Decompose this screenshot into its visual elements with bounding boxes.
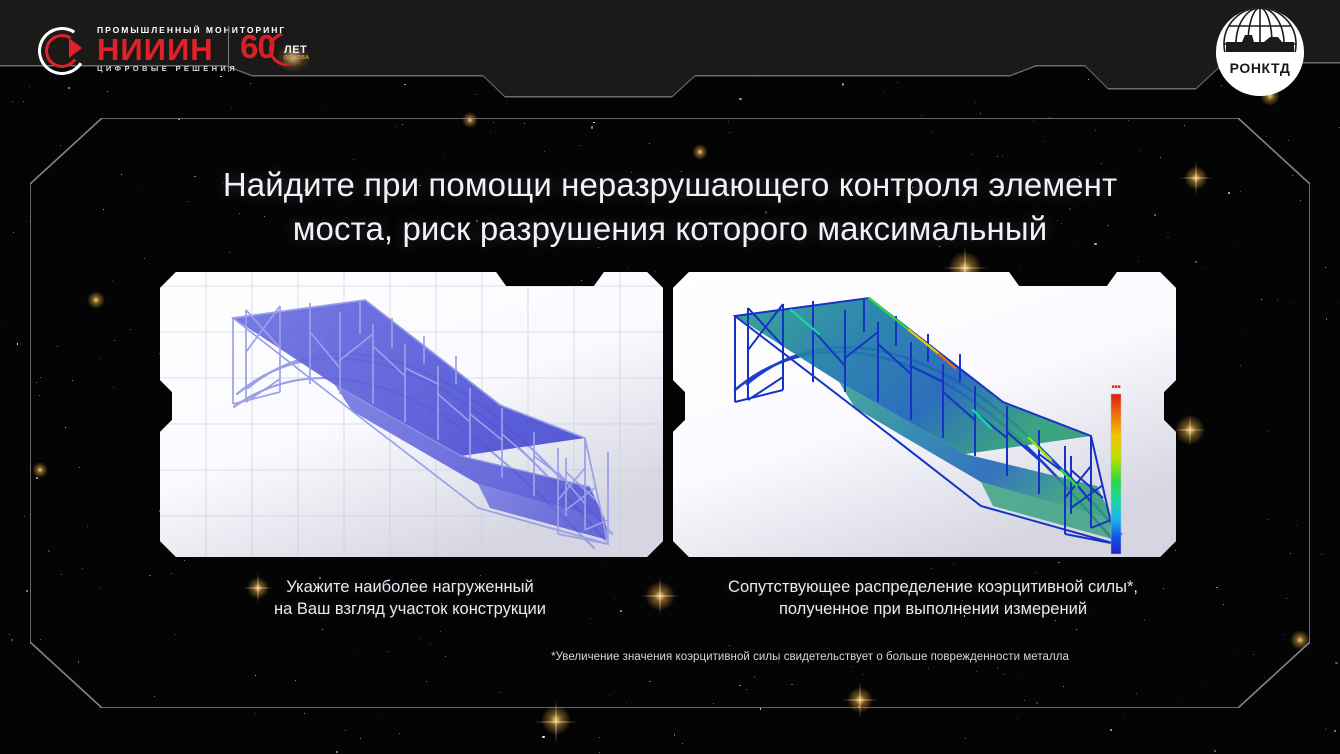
star-dot — [100, 358, 101, 359]
star-dot — [440, 631, 441, 632]
star-dot — [729, 645, 730, 646]
star-dot — [1240, 191, 1242, 193]
star-dot — [1124, 716, 1125, 717]
star-dot — [1195, 261, 1198, 264]
star-dot — [65, 427, 66, 428]
star-dot — [1110, 729, 1112, 731]
star-dot — [1277, 300, 1278, 301]
star-dot — [754, 676, 756, 678]
star-dot — [858, 706, 860, 708]
star-dot — [1292, 175, 1293, 176]
globe-icon — [1216, 8, 1304, 96]
star-dot — [26, 221, 27, 222]
star-dot — [1261, 299, 1262, 300]
star-dot — [1043, 141, 1044, 142]
star-dot — [739, 98, 742, 101]
header-divider — [228, 26, 229, 72]
anniversary-subtitle: ОСНОВА — [284, 55, 310, 61]
star-dot — [1326, 318, 1328, 320]
star-dot — [255, 675, 256, 676]
star-dot — [229, 252, 230, 253]
star-dot — [113, 387, 114, 388]
star-dot — [39, 395, 40, 396]
star-dot — [604, 563, 605, 564]
star-dot — [1325, 267, 1326, 268]
star-dot — [976, 671, 977, 672]
star-dot — [609, 695, 610, 696]
star-dot — [975, 102, 976, 103]
star-dot — [381, 714, 382, 715]
star-dot — [757, 78, 758, 79]
star-dot — [72, 380, 73, 381]
star-dot — [1002, 156, 1003, 157]
star-dot — [1178, 697, 1180, 699]
star-dot — [1058, 562, 1060, 564]
star-dot — [739, 685, 741, 687]
star-dot — [1179, 439, 1180, 440]
star-dot — [430, 644, 431, 645]
star-dot — [345, 730, 346, 731]
star-dot — [490, 132, 491, 133]
caption-right-line-2: полученное при выполнении измерений — [683, 598, 1183, 620]
star-dot — [9, 634, 10, 635]
star-dot — [36, 477, 38, 479]
star-dot — [1335, 662, 1338, 665]
star-dot — [1321, 554, 1322, 555]
star-dot — [103, 209, 104, 210]
panel-fea-result[interactable]: ■■■ ■■■ — [673, 272, 1176, 557]
star-dot — [1223, 604, 1224, 605]
star-dot — [655, 271, 656, 272]
star-dot — [29, 86, 30, 87]
star-dot — [360, 738, 361, 739]
star-dot — [1334, 730, 1336, 732]
star-dot — [1264, 677, 1265, 678]
star-dot — [1296, 525, 1297, 526]
star-dot — [580, 145, 581, 146]
cad-bridge-drawing — [160, 272, 663, 557]
star-dot — [965, 738, 967, 740]
star-dot — [178, 119, 180, 121]
star-dot — [1139, 150, 1140, 151]
star-dot — [99, 588, 100, 589]
star-dot — [1160, 157, 1161, 158]
svg-text:■■■: ■■■ — [1111, 384, 1120, 390]
star-dot — [12, 101, 13, 102]
star-dot — [171, 573, 172, 574]
star-dot — [159, 353, 160, 354]
slide-root: ПРОМЫШЛЕННЫЙ МОНИТОРИНГ НИИИН ЦИФРОВЫЕ Р… — [0, 0, 1340, 754]
star-dot — [627, 267, 628, 268]
ronktd-label: РОНКТД — [1216, 60, 1304, 76]
star-dot — [402, 124, 403, 125]
star-dot — [426, 681, 427, 682]
star-sparkle — [640, 576, 680, 616]
star-dot — [842, 83, 845, 86]
star-dot — [57, 346, 58, 347]
star-dot — [1088, 79, 1089, 80]
star-dot — [729, 132, 730, 133]
star-dot — [1184, 125, 1185, 126]
caption-left-line-1: Укажите наиболее нагруженный — [195, 576, 625, 598]
star-dot — [30, 466, 31, 467]
star-dot — [506, 103, 507, 104]
panel-cad-model[interactable] — [160, 272, 663, 557]
star-dot — [304, 713, 305, 714]
star-glow — [847, 687, 873, 713]
star-dot — [1024, 700, 1025, 701]
star-dot — [1017, 718, 1018, 719]
star-dot — [79, 467, 80, 468]
star-dot — [82, 568, 83, 569]
star-dot — [130, 329, 131, 330]
star-dot — [1020, 672, 1021, 673]
star-dot — [23, 101, 24, 102]
star-dot — [682, 743, 683, 744]
star-dot — [231, 108, 232, 109]
star-dot — [11, 639, 13, 641]
star-glow — [87, 291, 105, 309]
star-dot — [626, 703, 627, 704]
star-dot — [13, 232, 14, 233]
star-dot — [154, 696, 155, 697]
star-dot — [998, 668, 999, 669]
star-dot — [980, 113, 981, 114]
star-dot — [1267, 431, 1268, 432]
star-dot — [524, 123, 525, 124]
star-dot — [1036, 702, 1039, 705]
star-dot — [17, 343, 19, 345]
star-glow — [692, 144, 708, 160]
star-dot — [68, 87, 70, 89]
star-dot — [40, 377, 41, 378]
star-dot — [184, 560, 185, 561]
caption-right: Сопутствующее распределение коэрцитивной… — [683, 576, 1183, 620]
star-dot — [1004, 674, 1005, 675]
star-dot — [1049, 117, 1050, 118]
star-dot — [1234, 649, 1235, 650]
star-dot — [791, 684, 793, 686]
star-dot — [932, 132, 933, 133]
star-dot — [953, 564, 954, 565]
star-sparkle — [1174, 414, 1206, 446]
arrow-right-icon — [69, 38, 82, 58]
star-dot — [542, 736, 545, 739]
star-dot — [1240, 330, 1241, 331]
star-glow — [1175, 415, 1205, 445]
star-dot — [1234, 246, 1235, 247]
star-dot — [1063, 686, 1064, 687]
star-dot — [419, 638, 420, 639]
star-dot — [353, 159, 354, 160]
star-dot — [87, 526, 88, 527]
star-glow — [541, 705, 571, 735]
star-dot — [1128, 120, 1129, 121]
star-dot — [396, 126, 397, 127]
star-dot — [746, 689, 748, 691]
star-dot — [26, 590, 28, 592]
star-dot — [1138, 261, 1139, 262]
star-dot — [475, 94, 476, 95]
star-dot — [1228, 192, 1230, 194]
page-title: Найдите при помощи неразрушающего контро… — [150, 163, 1190, 251]
star-dot — [997, 667, 998, 668]
star-dot — [1288, 140, 1289, 141]
title-line-2: моста, риск разрушения которого максимал… — [150, 207, 1190, 251]
star-dot — [728, 121, 729, 122]
star-dot — [1216, 587, 1218, 589]
star-dot — [144, 258, 145, 259]
star-dot — [581, 280, 582, 281]
caption-left-line-2: на Ваш взгляд участок конструкции — [195, 598, 625, 620]
star-dot — [1290, 553, 1291, 554]
star-dot — [78, 661, 80, 663]
star-dot — [1325, 728, 1327, 730]
star-dot — [1240, 365, 1241, 366]
star-dot — [40, 639, 41, 640]
star-dot — [114, 340, 115, 341]
star-dot — [255, 713, 256, 714]
star-dot — [1283, 634, 1284, 635]
star-dot — [6, 326, 7, 327]
star-dot — [971, 154, 972, 155]
star-dot — [322, 109, 323, 110]
star-dot — [112, 280, 113, 281]
star-dot — [404, 84, 406, 86]
star-dot — [322, 629, 323, 630]
star-dot — [1286, 598, 1287, 599]
star-glow — [32, 462, 48, 478]
star-dot — [1175, 550, 1176, 551]
star-dot — [1338, 302, 1339, 303]
star-glow — [645, 581, 675, 611]
star-dot — [931, 568, 932, 569]
star-dot — [121, 174, 123, 176]
star-dot — [48, 550, 50, 552]
star-dot — [1293, 302, 1294, 303]
star-dot — [593, 122, 595, 124]
star-dot — [353, 650, 354, 651]
star-dot — [1136, 693, 1137, 694]
star-dot — [175, 634, 176, 635]
niiin-logo-mark-icon — [36, 25, 88, 73]
star-dot — [649, 681, 651, 683]
ronktd-logo[interactable]: РОНКТД — [1216, 8, 1304, 96]
star-glow — [1290, 630, 1310, 650]
star-dot — [24, 516, 25, 517]
star-dot — [33, 653, 34, 654]
star-dot — [1202, 267, 1203, 268]
star-dot — [852, 666, 853, 667]
star-dot — [444, 156, 445, 157]
star-dot — [499, 692, 500, 693]
star-dot — [61, 574, 62, 575]
star-dot — [760, 708, 762, 710]
star-dot — [36, 382, 37, 383]
star-dot — [1020, 266, 1021, 267]
star-glow — [462, 112, 478, 128]
star-dot — [137, 188, 138, 189]
star-sparkle — [534, 700, 578, 744]
star-dot — [713, 703, 714, 704]
star-dot — [862, 674, 864, 676]
anniversary-badge: 60 ЛЕТ ОСНОВА — [240, 26, 308, 72]
star-dot — [336, 751, 338, 753]
star-dot — [220, 76, 222, 78]
star-dot — [599, 737, 600, 738]
star-dot — [1076, 629, 1077, 630]
star-dot — [649, 143, 650, 144]
star-dot — [493, 122, 494, 123]
caption-right-line-1: Сопутствующее распределение коэрцитивной… — [683, 576, 1183, 598]
star-dot — [107, 91, 108, 92]
star-dot — [149, 575, 151, 577]
star-dot — [1267, 519, 1268, 520]
star-dot — [250, 83, 251, 84]
star-dot — [884, 92, 885, 93]
star-dot — [921, 115, 922, 116]
caption-left: Укажите наиболее нагруженный на Ваш взгл… — [195, 576, 625, 620]
star-dot — [897, 82, 898, 83]
star-dot — [1095, 130, 1096, 131]
footnote-text: *Увеличение значения коэрцитивной силы с… — [420, 651, 1200, 663]
star-dot — [1033, 120, 1034, 121]
star-dot — [591, 126, 594, 129]
star-dot — [674, 734, 676, 736]
star-dot — [1203, 685, 1204, 686]
star-dot — [1253, 654, 1254, 655]
star-dot — [997, 156, 998, 157]
star-dot — [295, 680, 296, 681]
star-dot — [599, 752, 601, 754]
star-dot — [544, 151, 545, 152]
fea-bridge-colormap: ■■■ ■■■ — [673, 272, 1176, 557]
star-sparkle — [842, 682, 878, 718]
star-dot — [60, 145, 61, 146]
star-dot — [1036, 572, 1037, 573]
star-dot — [1214, 750, 1216, 752]
star-dot — [1300, 200, 1301, 201]
title-line-1: Найдите при помощи неразрушающего контро… — [150, 163, 1190, 207]
star-dot — [399, 733, 401, 735]
star-dot — [928, 668, 929, 669]
star-dot — [387, 651, 388, 652]
